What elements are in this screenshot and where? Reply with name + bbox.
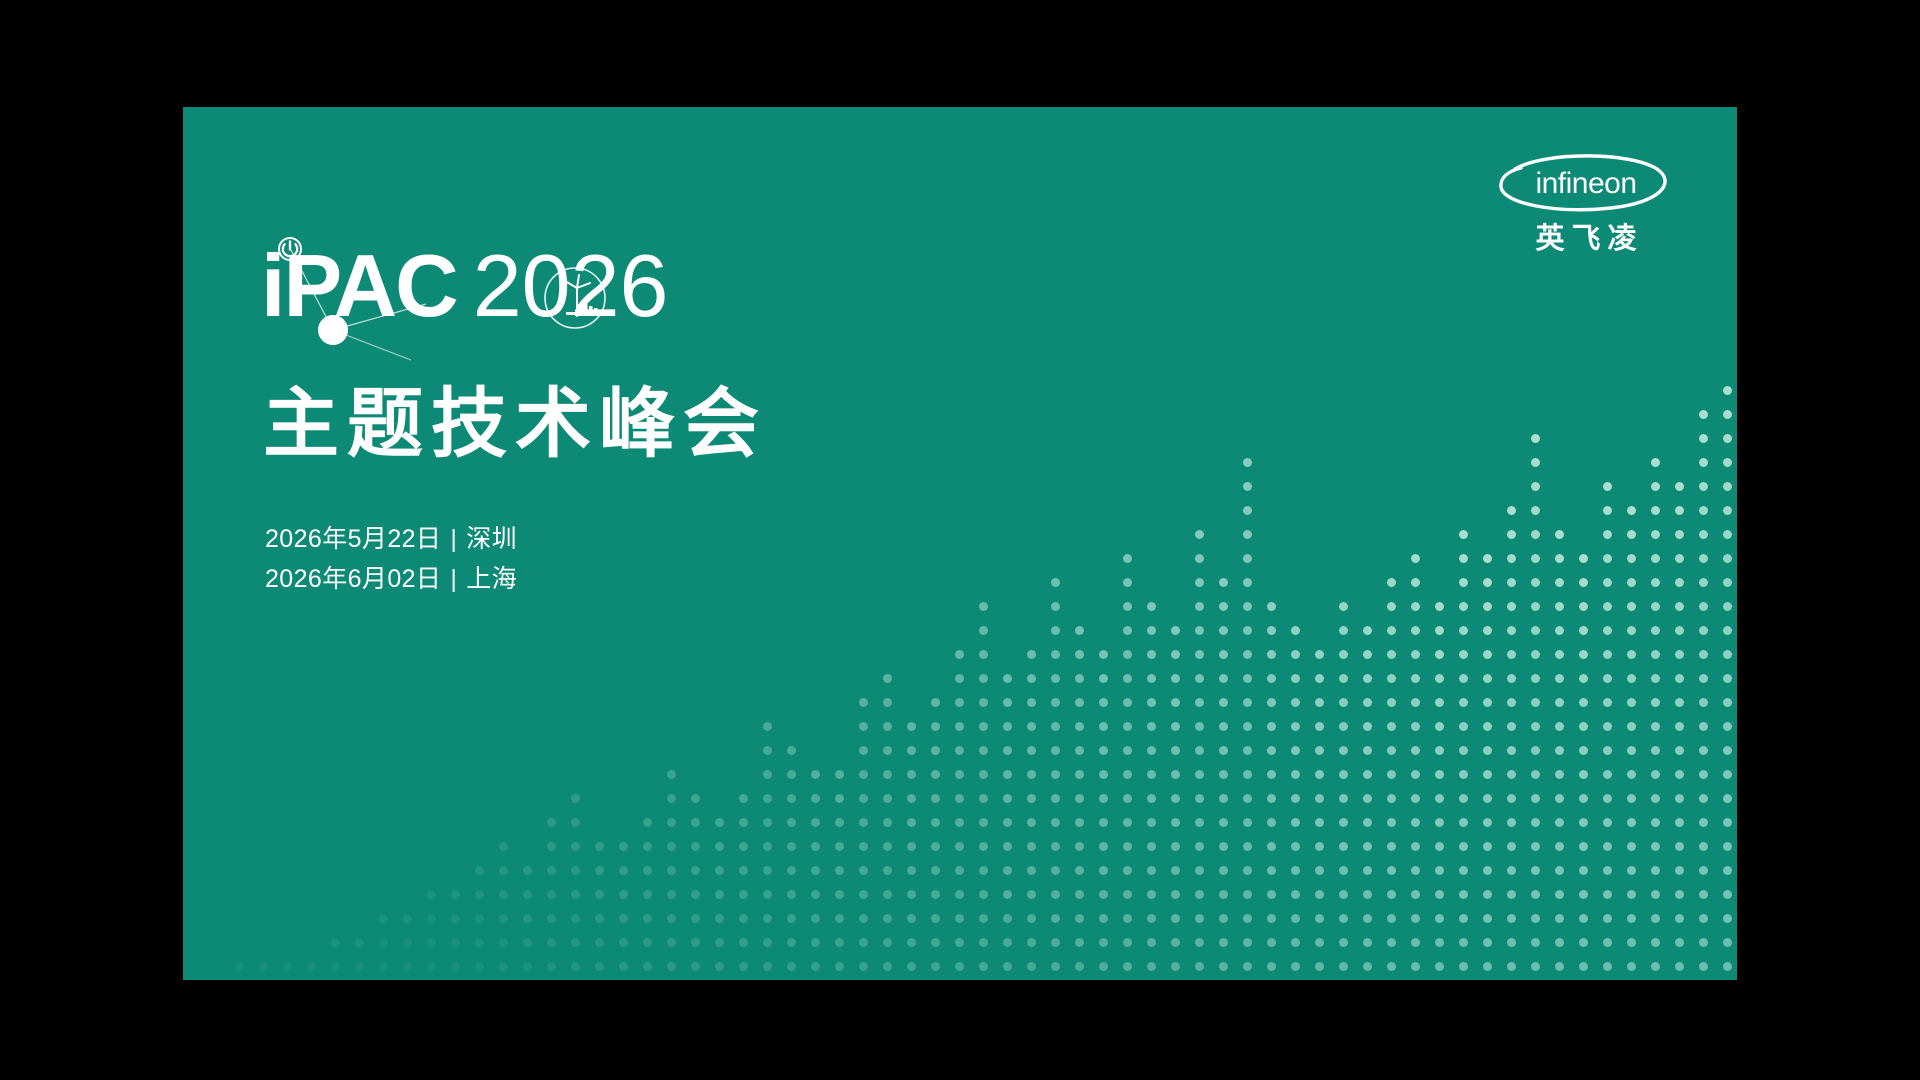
pattern-dot [1531, 458, 1540, 467]
pattern-dot [1243, 866, 1252, 875]
pattern-dot [955, 818, 964, 827]
pattern-dot [1147, 698, 1156, 707]
pattern-dot [1075, 770, 1084, 779]
pattern-dot [1627, 578, 1636, 587]
pattern-dot [1363, 914, 1372, 923]
pattern-dot [1291, 890, 1300, 899]
pattern-dot [883, 722, 892, 731]
pattern-dot [1675, 530, 1684, 539]
pattern-dot [1435, 602, 1444, 611]
pattern-dot [1195, 698, 1204, 707]
pattern-dot [1723, 818, 1732, 827]
pattern-dot [1123, 578, 1132, 587]
pattern-dot [1075, 722, 1084, 731]
pattern-dot [811, 794, 820, 803]
pattern-dot [547, 914, 556, 923]
pattern-dot [1123, 602, 1132, 611]
pattern-dot [787, 914, 796, 923]
pattern-dot [1699, 410, 1708, 419]
pattern-dot [1651, 962, 1660, 971]
pattern-dot [859, 818, 868, 827]
pattern-dot [1027, 794, 1036, 803]
pattern-dot [955, 962, 964, 971]
pattern-dot [1219, 602, 1228, 611]
pattern-dot [1459, 962, 1468, 971]
pattern-dot [1603, 722, 1612, 731]
pattern-dot [1339, 890, 1348, 899]
pattern-dot [1723, 506, 1732, 515]
pattern-dot [1435, 938, 1444, 947]
pattern-dot [499, 866, 508, 875]
event-schedule-list: 2026年5月22日|深圳 2026年6月02日|上海 [265, 519, 517, 599]
pattern-dot [1003, 866, 1012, 875]
pattern-dot [1699, 890, 1708, 899]
pattern-dot [451, 914, 460, 923]
pattern-dot [1219, 578, 1228, 587]
pattern-dot [1699, 506, 1708, 515]
pattern-dot [1531, 554, 1540, 563]
pattern-dot [955, 722, 964, 731]
pattern-dot [1651, 842, 1660, 851]
pattern-dot [1603, 794, 1612, 803]
pattern-dot [1291, 842, 1300, 851]
pattern-dot [1723, 578, 1732, 587]
pattern-dot [715, 818, 724, 827]
pattern-dot [763, 962, 772, 971]
pattern-dot [379, 938, 388, 947]
pattern-dot [1555, 722, 1564, 731]
pattern-dot [547, 818, 556, 827]
pattern-dot [883, 938, 892, 947]
pattern-dot [1651, 650, 1660, 659]
pattern-dot [1123, 698, 1132, 707]
pattern-dot [1603, 962, 1612, 971]
pattern-dot [1411, 698, 1420, 707]
pattern-dot [1195, 914, 1204, 923]
pattern-dot [1171, 890, 1180, 899]
pattern-dot [1531, 578, 1540, 587]
pattern-dot [1555, 698, 1564, 707]
pattern-dot [1387, 962, 1396, 971]
pattern-dot [1219, 746, 1228, 755]
pattern-dot [1363, 962, 1372, 971]
pattern-dot [715, 866, 724, 875]
pattern-dot [1603, 890, 1612, 899]
pattern-dot [739, 842, 748, 851]
pattern-dot [1603, 866, 1612, 875]
pattern-dot [1411, 554, 1420, 563]
infineon-logo-cn-text: 英飞凌 [1491, 221, 1681, 257]
pattern-dot [1579, 698, 1588, 707]
pattern-dot [1051, 794, 1060, 803]
presentation-slide: iPAC2026 主题技术峰会 [183, 107, 1737, 980]
pattern-dot [1627, 938, 1636, 947]
pattern-dot [907, 770, 916, 779]
pattern-dot [1675, 650, 1684, 659]
pattern-dot [1555, 962, 1564, 971]
pattern-dot [1435, 962, 1444, 971]
pattern-dot [1675, 506, 1684, 515]
pattern-dot [811, 770, 820, 779]
pattern-dot [1291, 698, 1300, 707]
pattern-dot [1339, 866, 1348, 875]
pattern-dot [1675, 674, 1684, 683]
pattern-dot [1291, 962, 1300, 971]
pattern-dot [403, 962, 412, 971]
pattern-dot [1699, 794, 1708, 803]
pattern-dot [859, 842, 868, 851]
pattern-dot [331, 962, 340, 971]
pattern-dot [1339, 674, 1348, 683]
pattern-dot [1459, 938, 1468, 947]
pattern-dot [571, 842, 580, 851]
pattern-dot [1387, 722, 1396, 731]
pattern-dot [1411, 818, 1420, 827]
pattern-dot [907, 842, 916, 851]
pattern-dot [739, 818, 748, 827]
pattern-dot [1171, 866, 1180, 875]
pattern-dot [739, 866, 748, 875]
pattern-dot [667, 842, 676, 851]
pattern-dot [835, 794, 844, 803]
pattern-dot [595, 842, 604, 851]
pattern-dot [1699, 746, 1708, 755]
pattern-dot [1723, 650, 1732, 659]
pattern-dot [1051, 578, 1060, 587]
pattern-dot [595, 866, 604, 875]
pattern-dot [1075, 746, 1084, 755]
pattern-dot [1531, 482, 1540, 491]
pattern-dot [1003, 770, 1012, 779]
pattern-dot [1195, 866, 1204, 875]
pattern-dot [1627, 554, 1636, 563]
pattern-dot [1267, 842, 1276, 851]
list-item: 2026年5月22日|深圳 [265, 519, 517, 559]
pattern-dot [475, 914, 484, 923]
pattern-dot [1339, 818, 1348, 827]
pattern-dot [427, 938, 436, 947]
infineon-swoosh-icon: infineon [1491, 153, 1681, 215]
pattern-dot [1723, 458, 1732, 467]
pattern-dot [691, 914, 700, 923]
pattern-dot [1243, 602, 1252, 611]
pattern-dot [1411, 842, 1420, 851]
pattern-dot [1411, 770, 1420, 779]
pattern-dot [1147, 770, 1156, 779]
pattern-dot [1291, 770, 1300, 779]
pattern-dot [1147, 890, 1156, 899]
pattern-dot [1699, 914, 1708, 923]
pattern-dot [1675, 794, 1684, 803]
pattern-dot [691, 842, 700, 851]
pattern-dot [1435, 794, 1444, 803]
pattern-dot [1531, 914, 1540, 923]
pattern-dot [691, 794, 700, 803]
pattern-dot [571, 938, 580, 947]
pattern-dot [1123, 890, 1132, 899]
pattern-dot [1699, 458, 1708, 467]
pattern-dot [1699, 938, 1708, 947]
pattern-dot [1147, 818, 1156, 827]
pattern-dot [1531, 674, 1540, 683]
pattern-dot [1723, 962, 1732, 971]
pattern-dot [1483, 842, 1492, 851]
pattern-dot [1003, 674, 1012, 683]
pattern-dot [763, 794, 772, 803]
pattern-dot [1675, 890, 1684, 899]
pattern-dot [1555, 602, 1564, 611]
pattern-dot [1051, 818, 1060, 827]
pattern-dot [931, 914, 940, 923]
ipac-wordmark-text: iPAC [261, 236, 457, 335]
pattern-dot [979, 962, 988, 971]
pattern-dot [1699, 650, 1708, 659]
pattern-dot [1219, 794, 1228, 803]
pattern-dot [1195, 554, 1204, 563]
pattern-dot [1387, 626, 1396, 635]
pattern-dot [1651, 818, 1660, 827]
pattern-dot [1243, 746, 1252, 755]
pattern-dot [1579, 890, 1588, 899]
pattern-dot [1315, 674, 1324, 683]
pattern-dot [1723, 698, 1732, 707]
pattern-dot [835, 770, 844, 779]
pattern-dot [1003, 746, 1012, 755]
pattern-dot [979, 818, 988, 827]
pattern-dot [1339, 770, 1348, 779]
pattern-dot [1267, 746, 1276, 755]
pattern-dot [1363, 890, 1372, 899]
pattern-dot [619, 914, 628, 923]
pattern-dot [643, 842, 652, 851]
infineon-logo: infineon 英飞凌 [1491, 153, 1681, 257]
pattern-dot [979, 914, 988, 923]
pattern-dot [763, 770, 772, 779]
pattern-dot [715, 962, 724, 971]
pattern-dot [1675, 482, 1684, 491]
pattern-dot [1315, 746, 1324, 755]
pattern-dot [811, 914, 820, 923]
pattern-dot [1003, 962, 1012, 971]
pattern-dot [1459, 554, 1468, 563]
pattern-dot [859, 914, 868, 923]
pattern-dot [427, 962, 436, 971]
pattern-dot [1483, 866, 1492, 875]
pattern-dot [1435, 626, 1444, 635]
pattern-dot [1243, 842, 1252, 851]
pattern-dot [1099, 914, 1108, 923]
pattern-dot [787, 746, 796, 755]
pattern-dot [259, 962, 268, 971]
pattern-dot [955, 914, 964, 923]
pattern-dot [1339, 914, 1348, 923]
pattern-dot [955, 674, 964, 683]
pattern-dot [1243, 626, 1252, 635]
pattern-dot [643, 962, 652, 971]
pattern-dot [1315, 842, 1324, 851]
pattern-dot [1483, 578, 1492, 587]
pattern-dot [979, 650, 988, 659]
pattern-dot [1507, 794, 1516, 803]
pattern-dot [667, 890, 676, 899]
pattern-dot [763, 866, 772, 875]
pattern-dot [1387, 746, 1396, 755]
pattern-dot [1555, 842, 1564, 851]
pattern-dot [1603, 938, 1612, 947]
pattern-dot [1627, 602, 1636, 611]
pattern-dot [475, 890, 484, 899]
pattern-dot [715, 890, 724, 899]
pattern-dot [859, 746, 868, 755]
pattern-dot [1651, 866, 1660, 875]
pattern-dot [1435, 722, 1444, 731]
pattern-dot [931, 866, 940, 875]
pattern-dot [907, 722, 916, 731]
pattern-dot [979, 866, 988, 875]
pattern-dot [1579, 650, 1588, 659]
pattern-dot [1171, 626, 1180, 635]
pattern-dot [1123, 770, 1132, 779]
pattern-dot [1603, 698, 1612, 707]
pattern-dot [1483, 602, 1492, 611]
pattern-dot [883, 866, 892, 875]
pattern-dot [1171, 674, 1180, 683]
pattern-dot [1099, 746, 1108, 755]
pattern-dot [547, 938, 556, 947]
pattern-dot [1603, 506, 1612, 515]
pattern-dot [571, 890, 580, 899]
pattern-dot [499, 890, 508, 899]
pattern-dot [835, 962, 844, 971]
pattern-dot [1003, 698, 1012, 707]
pattern-dot [1147, 866, 1156, 875]
pattern-dot [475, 962, 484, 971]
pattern-dot [1363, 674, 1372, 683]
pattern-dot [403, 938, 412, 947]
pattern-dot [1291, 626, 1300, 635]
pattern-dot [1483, 962, 1492, 971]
pattern-dot [1171, 842, 1180, 851]
pattern-dot [1027, 698, 1036, 707]
pattern-dot [979, 602, 988, 611]
pattern-dot [595, 938, 604, 947]
pattern-dot [571, 914, 580, 923]
pattern-dot [811, 890, 820, 899]
pattern-dot [1723, 842, 1732, 851]
pattern-dot [475, 938, 484, 947]
pattern-dot [1195, 578, 1204, 587]
pattern-dot [1315, 890, 1324, 899]
pattern-dot [1723, 626, 1732, 635]
pattern-dot [1363, 818, 1372, 827]
pattern-dot [1603, 770, 1612, 779]
pattern-dot [1507, 722, 1516, 731]
pattern-dot [883, 746, 892, 755]
pattern-dot [955, 698, 964, 707]
pattern-dot [1147, 722, 1156, 731]
pattern-dot [1003, 890, 1012, 899]
pattern-dot [907, 866, 916, 875]
pattern-dot [1363, 722, 1372, 731]
pattern-dot [1195, 674, 1204, 683]
pattern-dot [1507, 842, 1516, 851]
pattern-dot [1411, 746, 1420, 755]
pattern-dot [1219, 914, 1228, 923]
pattern-dot [1435, 890, 1444, 899]
pattern-dot [1147, 602, 1156, 611]
pattern-dot [1603, 674, 1612, 683]
pattern-dot [883, 770, 892, 779]
pattern-dot [979, 698, 988, 707]
pattern-dot [1603, 842, 1612, 851]
pattern-dot [1243, 770, 1252, 779]
pattern-dot [1627, 530, 1636, 539]
pattern-dot [1147, 938, 1156, 947]
pattern-dot [1051, 890, 1060, 899]
pattern-dot [1507, 938, 1516, 947]
pattern-dot [1171, 914, 1180, 923]
pattern-dot [1267, 602, 1276, 611]
pattern-dot [1579, 866, 1588, 875]
pattern-dot [1123, 554, 1132, 563]
pattern-dot [1147, 626, 1156, 635]
pattern-dot [1531, 434, 1540, 443]
pattern-dot [1171, 818, 1180, 827]
pattern-dot [1219, 866, 1228, 875]
pattern-dot [1723, 434, 1732, 443]
pattern-dot [1099, 962, 1108, 971]
pattern-dot [1171, 962, 1180, 971]
pattern-dot [1483, 626, 1492, 635]
pattern-dot [1123, 650, 1132, 659]
pattern-dot [1243, 722, 1252, 731]
pattern-dot [1147, 794, 1156, 803]
pattern-dot [739, 914, 748, 923]
pattern-dot [1699, 698, 1708, 707]
pattern-dot [1075, 842, 1084, 851]
pattern-dot [1651, 458, 1660, 467]
pattern-dot [1267, 818, 1276, 827]
pattern-dot [883, 698, 892, 707]
pattern-dot [931, 938, 940, 947]
pattern-dot [1051, 602, 1060, 611]
pattern-dot [1363, 698, 1372, 707]
pattern-dot [643, 866, 652, 875]
pattern-dot [1291, 914, 1300, 923]
pattern-dot [787, 818, 796, 827]
pattern-dot [1243, 482, 1252, 491]
pattern-dot [1675, 962, 1684, 971]
pattern-dot [1699, 530, 1708, 539]
pattern-dot [1315, 818, 1324, 827]
pattern-dot [979, 842, 988, 851]
pattern-dot [691, 938, 700, 947]
pattern-dot [1627, 698, 1636, 707]
pattern-dot [1627, 746, 1636, 755]
pattern-dot [1315, 866, 1324, 875]
pattern-dot [1267, 626, 1276, 635]
pattern-dot [1195, 626, 1204, 635]
pattern-dot [1531, 722, 1540, 731]
pattern-dot [931, 794, 940, 803]
pattern-dot [1243, 554, 1252, 563]
pattern-dot [1363, 938, 1372, 947]
pattern-dot [379, 962, 388, 971]
pattern-dot [1027, 746, 1036, 755]
pattern-dot [1075, 938, 1084, 947]
pattern-dot [1219, 890, 1228, 899]
pattern-dot [1651, 602, 1660, 611]
